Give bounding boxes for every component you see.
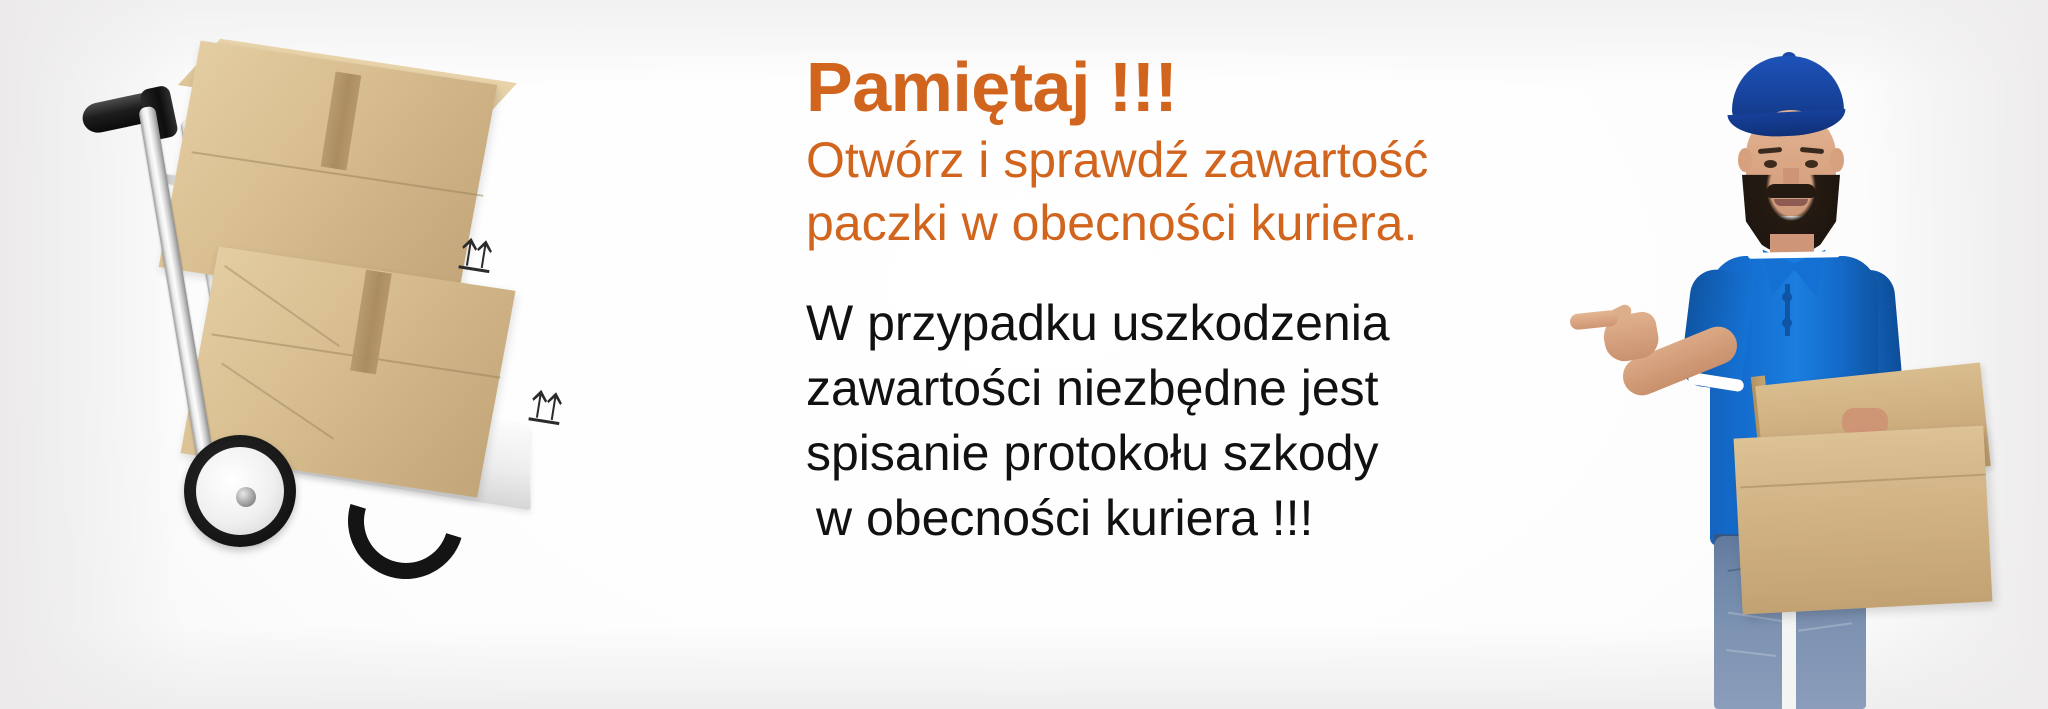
courier-shirt-button xyxy=(1782,292,1792,302)
hand-truck-wheel-hub xyxy=(196,447,284,535)
notice-body-line-4: w obecności kuriera !!! xyxy=(806,486,1506,551)
notice-body-line-1: W przypadku uszkodzenia xyxy=(806,291,1506,356)
courier-shirt-button xyxy=(1782,318,1792,328)
notice-body-line-3: spisanie protokołu szkody xyxy=(806,421,1506,486)
notice-subheading-line-2: paczki w obecności kuriera. xyxy=(806,192,1506,255)
held-parcel-front xyxy=(1734,426,1993,615)
notice-body-line-2: zawartości niezbędne jest xyxy=(806,356,1506,421)
notice-subheading-line-1: Otwórz i sprawdź zawartość xyxy=(806,129,1506,192)
this-side-up-icon xyxy=(457,231,497,276)
hand-truck-wheel-bolt xyxy=(236,487,256,507)
courier-ear-right xyxy=(1830,148,1844,172)
notice-text-block: Pamiętaj !!! Otwórz i sprawdź zawartość … xyxy=(806,52,1506,551)
courier-eye-right xyxy=(1805,160,1818,168)
hand-truck-wheel-front xyxy=(184,435,296,547)
notice-body: W przypadku uszkodzenia zawartości niezb… xyxy=(806,291,1506,551)
courier-illustration xyxy=(1542,56,2042,709)
hand-truck-illustration xyxy=(60,55,620,655)
courier-ear-left xyxy=(1738,148,1752,172)
this-side-up-icon xyxy=(527,383,567,428)
delivery-notice-banner: Pamiętaj !!! Otwórz i sprawdź zawartość … xyxy=(0,0,2048,709)
courier-legs-gap xyxy=(1782,604,1796,709)
courier-moustache xyxy=(1766,184,1816,198)
courier-mouth xyxy=(1774,199,1808,206)
courier-eye-left xyxy=(1764,160,1777,168)
notice-headline: Pamiętaj !!! xyxy=(806,52,1506,123)
